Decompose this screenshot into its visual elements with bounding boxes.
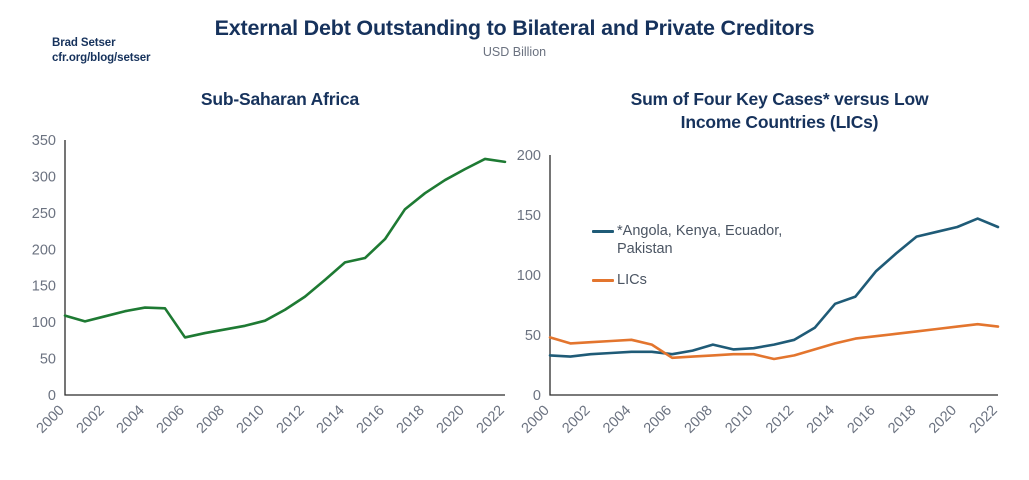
legend-swatch-icon-lics [592,279,614,282]
x-tick-label: 2022 [967,403,1001,437]
x-tick-label: 2008 [682,403,716,437]
x-tick-label: 2014 [314,403,348,437]
x-tick-label: 2012 [763,403,797,437]
chart-page: Brad Setser cfr.org/blog/setser External… [0,0,1029,480]
chart-panel-sub-saharan-africa: 0501001502002503003502000200220042006200… [0,0,520,480]
x-tick-label: 2020 [926,403,960,437]
x-tick-label: 2006 [154,403,188,437]
x-tick-label: 2018 [885,403,919,437]
x-tick-label: 2004 [600,403,634,437]
x-tick-label: 2002 [74,403,108,437]
y-tick-label: 0 [533,388,541,404]
chart-axes [65,140,505,395]
y-tick-label: 150 [517,208,541,224]
y-tick-label: 150 [32,279,56,295]
y-tick-label: 350 [32,133,56,149]
y-tick-label: 300 [32,169,56,185]
y-tick-label: 50 [525,328,541,344]
legend: *Angola, Kenya, Ecuador, Pakistan LICs [592,222,822,302]
y-tick-label: 200 [32,242,56,258]
x-tick-label: 2000 [34,403,68,437]
x-tick-label: 2004 [114,403,148,437]
y-tick-label: 100 [32,315,56,331]
x-tick-label: 2016 [845,403,879,437]
y-tick-label: 100 [517,268,541,284]
y-tick-label: 50 [40,352,56,368]
x-tick-label: 2016 [354,403,388,437]
x-tick-label: 2006 [641,403,675,437]
legend-label-four-key-cases: *Angola, Kenya, Ecuador, Pakistan [617,222,817,258]
x-tick-label: 2002 [559,403,593,437]
legend-item-lics[interactable]: LICs [592,271,822,289]
x-tick-label: 2012 [274,403,308,437]
legend-item-four-key-cases[interactable]: *Angola, Kenya, Ecuador, Pakistan [592,222,822,258]
y-tick-label: 0 [48,388,56,404]
plot-area-left: 0501001502002503003502000200220042006200… [0,0,520,480]
x-tick-label: 2014 [804,403,838,437]
legend-label-lics: LICs [617,271,647,289]
x-tick-label: 2018 [394,403,428,437]
y-tick-label: 250 [32,206,56,222]
x-tick-label: 2010 [722,403,756,437]
y-tick-label: 200 [517,148,541,164]
x-tick-label: 2008 [194,403,228,437]
series-line-sub-saharan-africa [65,159,505,338]
legend-swatch-icon-four-key-cases [592,230,614,233]
x-tick-label: 2010 [234,403,268,437]
x-tick-label: 2000 [519,403,553,437]
x-tick-label: 2020 [434,403,468,437]
